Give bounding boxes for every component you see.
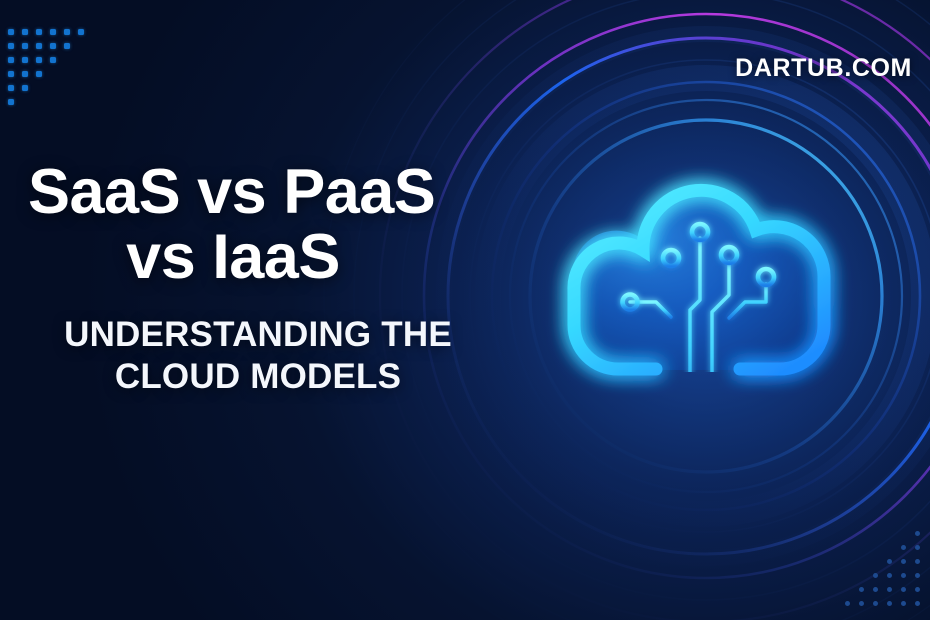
dot-grid-top-left	[4, 25, 88, 109]
headline-block: SaaS vs PaaS vs IaaS UNDERSTANDING THE C…	[28, 160, 508, 399]
cloud-trailing-traces	[671, 370, 712, 440]
page-subtitle: UNDERSTANDING THE CLOUD MODELS	[28, 314, 508, 399]
title-line-1: SaaS vs PaaS	[28, 160, 508, 225]
page-title: SaaS vs PaaS vs IaaS	[28, 160, 508, 290]
cloud-models-banner: DARTUB.COM SaaS vs PaaS vs IaaS UNDERSTA…	[0, 0, 930, 620]
subtitle-line-2: CLOUD MODELS	[28, 356, 488, 399]
cloud-body	[573, 188, 824, 370]
circuit-cloud-icon	[540, 150, 880, 440]
subtitle-line-1: UNDERSTANDING THE	[28, 314, 488, 357]
dot-grid-bottom-right	[840, 526, 924, 610]
watermark-brand: DARTUB.COM	[735, 54, 912, 83]
title-line-2: vs IaaS	[28, 225, 508, 290]
